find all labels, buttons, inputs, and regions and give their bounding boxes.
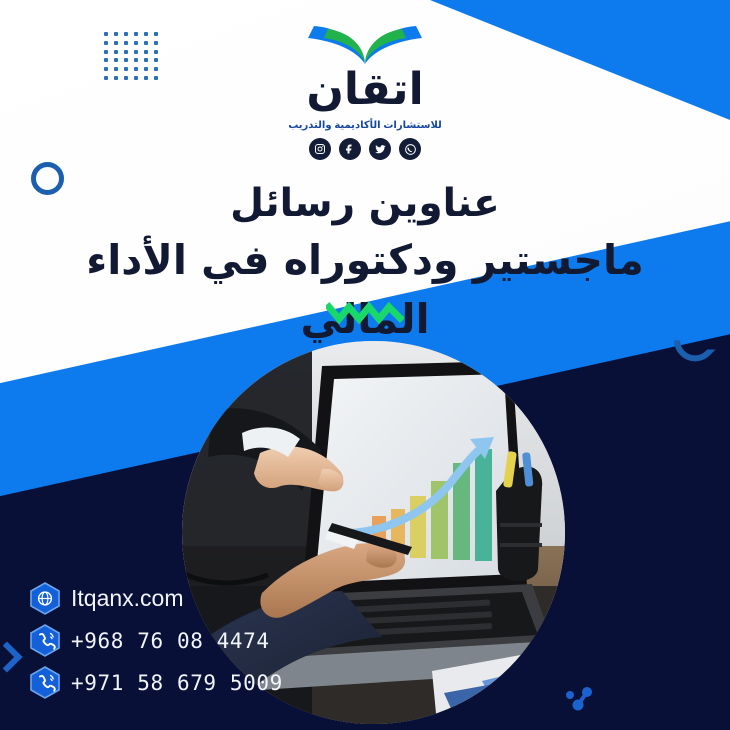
- globe-icon: [30, 582, 60, 615]
- contact-row-phone-1[interactable]: +968 76 08 4474: [30, 624, 283, 657]
- phone-icon: [30, 624, 60, 657]
- open-book-wings-icon: [300, 14, 430, 66]
- svg-text:اتقان: اتقان: [306, 64, 423, 115]
- headline-line-2: ماجستير ودكتوراه في الأداء المالي: [30, 231, 700, 347]
- facebook-icon[interactable]: [339, 138, 361, 160]
- phone-icon: [30, 666, 60, 699]
- twitter-icon[interactable]: [369, 138, 391, 160]
- logo-subtitle: للاستشارات الأكاديمية والتدريب: [0, 120, 730, 131]
- phone-text-1: +968 76 08 4474: [71, 629, 270, 653]
- website-text: Itqanx.com: [71, 585, 184, 612]
- social-links: [0, 138, 730, 160]
- contact-row-phone-2[interactable]: +971 58 679 5009: [30, 666, 283, 699]
- headline-line-1: عناوين رسائل: [230, 181, 500, 226]
- molecule-mark-icon: [563, 686, 597, 712]
- logo-wordmark-arabic: اتقان: [285, 60, 445, 118]
- poster-canvas: اتقان للاستشارات الأكاديمية والتدريب: [0, 0, 730, 730]
- brand-logo: اتقان للاستشارات الأكاديمية والتدريب: [0, 14, 730, 160]
- contact-block: Itqanx.com +968 76 08 4474 +971 58 6: [30, 582, 283, 708]
- contact-row-website[interactable]: Itqanx.com: [30, 582, 283, 615]
- phone-text-2: +971 58 679 5009: [71, 671, 283, 695]
- instagram-icon[interactable]: [309, 138, 331, 160]
- green-zigzag-icon: [0, 302, 730, 329]
- whatsapp-icon[interactable]: [399, 138, 421, 160]
